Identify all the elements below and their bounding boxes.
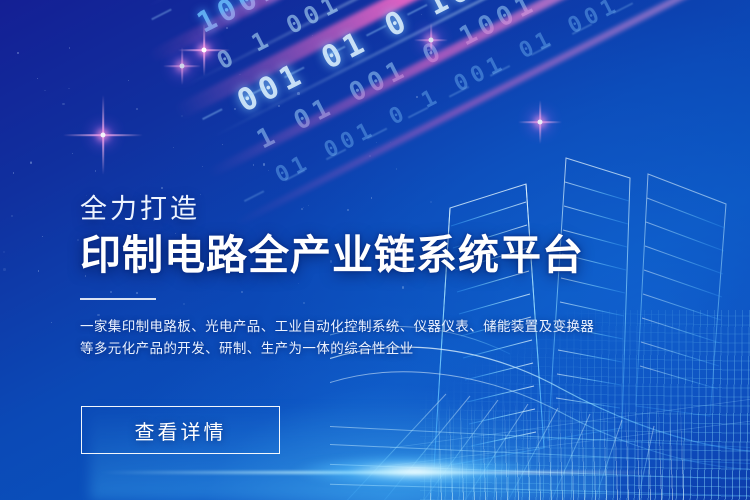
white-streak xyxy=(185,0,750,87)
star-dot xyxy=(44,90,46,92)
star-dot xyxy=(376,142,377,143)
star-dot xyxy=(3,251,5,253)
code-row: 1 01 001 0 1001 010 1 xyxy=(252,0,652,155)
star-dot xyxy=(226,27,228,29)
star-dot xyxy=(128,80,129,81)
star-dot xyxy=(136,108,138,110)
star-dot xyxy=(37,78,38,79)
star-dot xyxy=(181,115,183,117)
star-dot xyxy=(390,142,391,143)
code-row: 001 01 0 1001 01 001 xyxy=(231,0,669,120)
star-dot xyxy=(421,14,422,15)
star-dot xyxy=(202,166,203,167)
star-dot xyxy=(3,268,6,271)
hero-banner: 0101 001 0 1 01 0010 1 001 01 0010 1 001… xyxy=(0,0,750,500)
star-dot xyxy=(239,74,240,75)
white-streak xyxy=(211,0,750,139)
sparkle-icon xyxy=(518,100,562,144)
star-dot xyxy=(68,88,70,90)
code-row: 0 1 001 0101 001 01 0 xyxy=(212,0,589,75)
subtitle-line: 一家集印制电路板、光电产品、工业自动化控制系统、仪器仪表、储能装置及变换器 xyxy=(80,316,600,338)
star-dot xyxy=(173,147,174,148)
subtitle-line: 等多元化产品的开发、研制、生产为一体的综合性企业 xyxy=(80,338,600,360)
star-dot xyxy=(69,47,70,48)
light-burst xyxy=(250,448,580,494)
star-dot xyxy=(30,161,32,163)
sparkle-icon xyxy=(414,23,448,57)
star-dot xyxy=(13,172,15,174)
star-dot xyxy=(95,170,96,171)
star-dot xyxy=(38,270,40,272)
star-dot xyxy=(72,153,73,154)
star-dot xyxy=(11,215,13,217)
star-dot xyxy=(161,187,163,189)
sparkle-icon xyxy=(163,47,201,85)
subtitle-block: 一家集印制电路板、光电产品、工业自动化控制系统、仪器仪表、储能装置及变换器 等多… xyxy=(80,316,600,360)
star-dot xyxy=(62,103,64,105)
hero-content: 全力打造 印制电路全产业链系统平台 一家集印制电路板、光电产品、工业自动化控制系… xyxy=(80,196,600,360)
star-dot xyxy=(253,164,255,166)
star-dot xyxy=(278,105,280,107)
star-dot xyxy=(77,239,79,241)
star-dot xyxy=(312,35,313,36)
page-title: 印制电路全产业链系统平台 xyxy=(80,235,600,276)
star-dot xyxy=(30,162,32,164)
star-dot xyxy=(17,52,18,53)
pink-streak xyxy=(173,0,750,120)
view-details-label: 查看详情 xyxy=(135,416,227,445)
white-streak xyxy=(145,0,750,9)
star-dot xyxy=(427,49,429,51)
divider xyxy=(80,298,156,300)
view-details-button[interactable]: 查看详情 xyxy=(81,406,280,454)
star-dot xyxy=(297,92,300,95)
code-row: 1001 01 001 01 0 1001 xyxy=(191,0,627,40)
eyebrow-text: 全力打造 xyxy=(80,196,600,223)
pink-streak xyxy=(146,0,750,64)
star-dot xyxy=(51,322,52,323)
star-dot xyxy=(222,144,223,145)
star-dot xyxy=(268,170,269,171)
star-dot xyxy=(416,96,418,98)
sparkle-icon xyxy=(63,95,143,175)
star-dot xyxy=(263,163,265,165)
dashed-line xyxy=(151,0,750,20)
star-dot xyxy=(234,108,236,110)
dashed-line xyxy=(202,0,750,120)
star-dot xyxy=(42,236,43,237)
sparkle-icon xyxy=(178,24,230,76)
